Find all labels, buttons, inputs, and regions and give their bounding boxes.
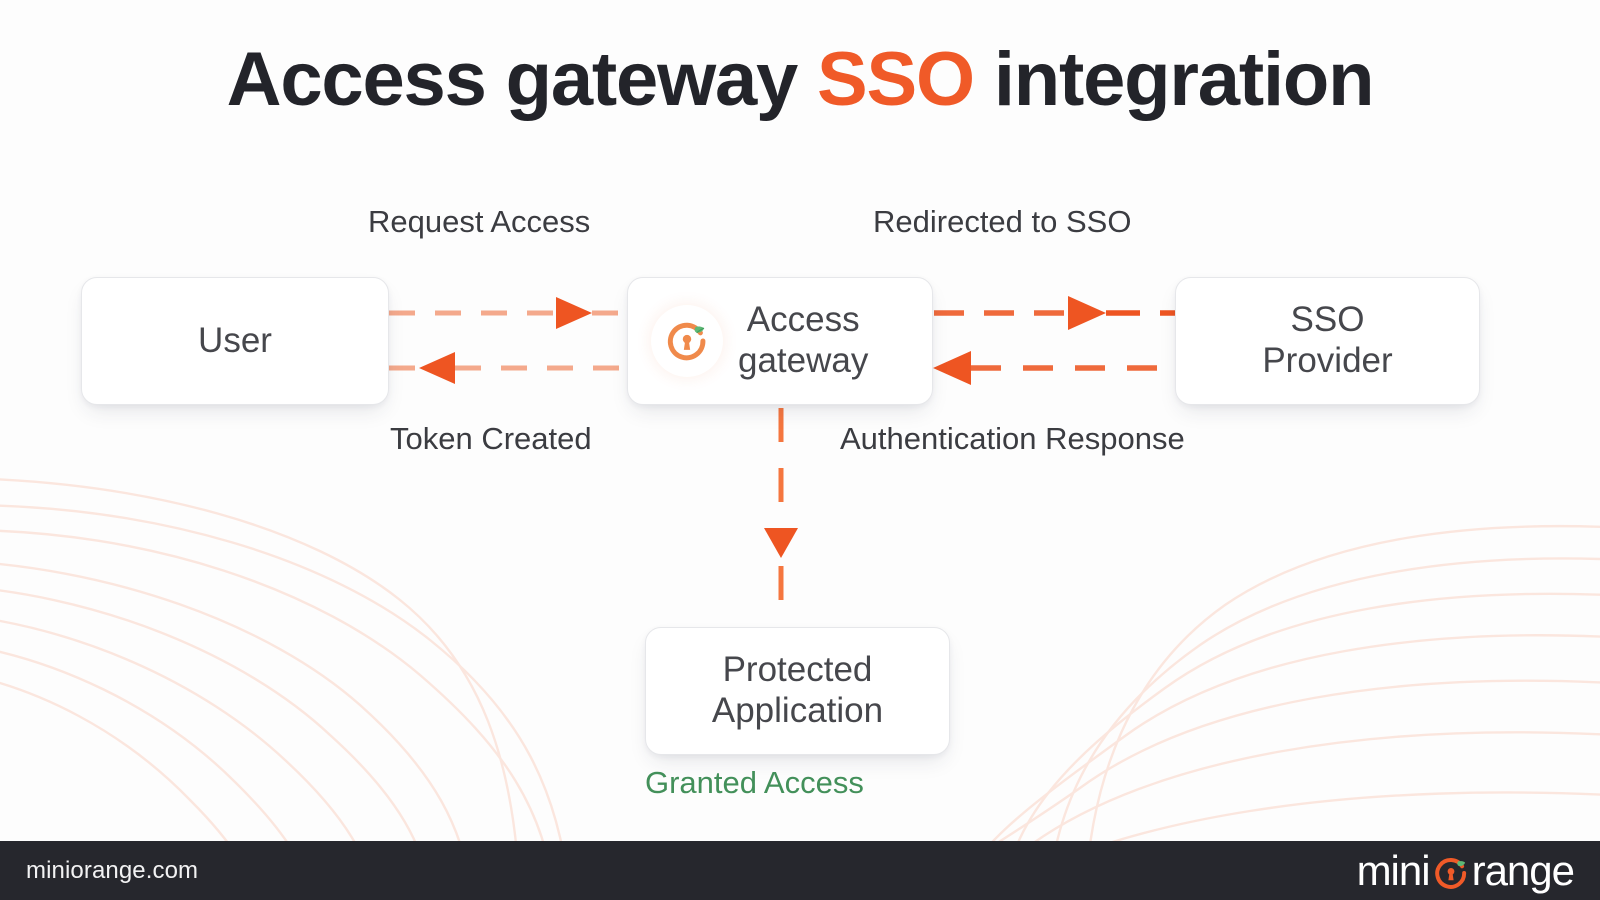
title-text-before: Access gateway: [227, 37, 817, 122]
miniorange-lock-icon: [1431, 853, 1471, 893]
diagram-canvas: Access gateway SSO integration: [0, 0, 1600, 900]
footer-bar: miniorange.com mini range: [0, 841, 1600, 900]
miniorange-lock-icon: [658, 312, 716, 370]
edge-label-granted-access: Granted Access: [645, 765, 864, 801]
node-user-label: User: [198, 321, 272, 362]
edge-label-token-created: Token Created: [390, 421, 592, 457]
logo-text-suffix: range: [1472, 847, 1574, 895]
miniorange-logo[interactable]: mini range: [1357, 847, 1574, 895]
edge-gateway-to-application-granted: [764, 408, 798, 616]
title-text-after: integration: [974, 37, 1373, 122]
edge-label-request-access: Request Access: [368, 204, 590, 240]
title-text-accent: SSO: [817, 37, 974, 122]
page-title: Access gateway SSO integration: [0, 36, 1600, 123]
node-user[interactable]: User: [81, 277, 389, 405]
node-access-gateway-label: Access gateway: [738, 300, 868, 381]
footer-website-url[interactable]: miniorange.com: [26, 857, 198, 885]
node-protected-application[interactable]: Protected Application: [645, 627, 950, 755]
edge-sso-to-gateway-authresponse: [933, 351, 1176, 385]
edge-user-to-gateway-request: [389, 297, 628, 329]
edge-gateway-to-sso-redirect: [934, 296, 1176, 330]
node-sso-provider[interactable]: SSO Provider: [1175, 277, 1480, 405]
node-access-gateway[interactable]: Access gateway: [627, 277, 933, 405]
logo-text-prefix: mini: [1357, 847, 1430, 895]
edge-gateway-to-user-token: [389, 352, 628, 384]
edge-label-authentication-response: Authentication Response: [840, 421, 1185, 457]
node-sso-provider-label: SSO Provider: [1262, 300, 1392, 381]
node-protected-application-label: Protected Application: [712, 650, 883, 731]
edge-label-redirected-to-sso: Redirected to SSO: [873, 204, 1131, 240]
